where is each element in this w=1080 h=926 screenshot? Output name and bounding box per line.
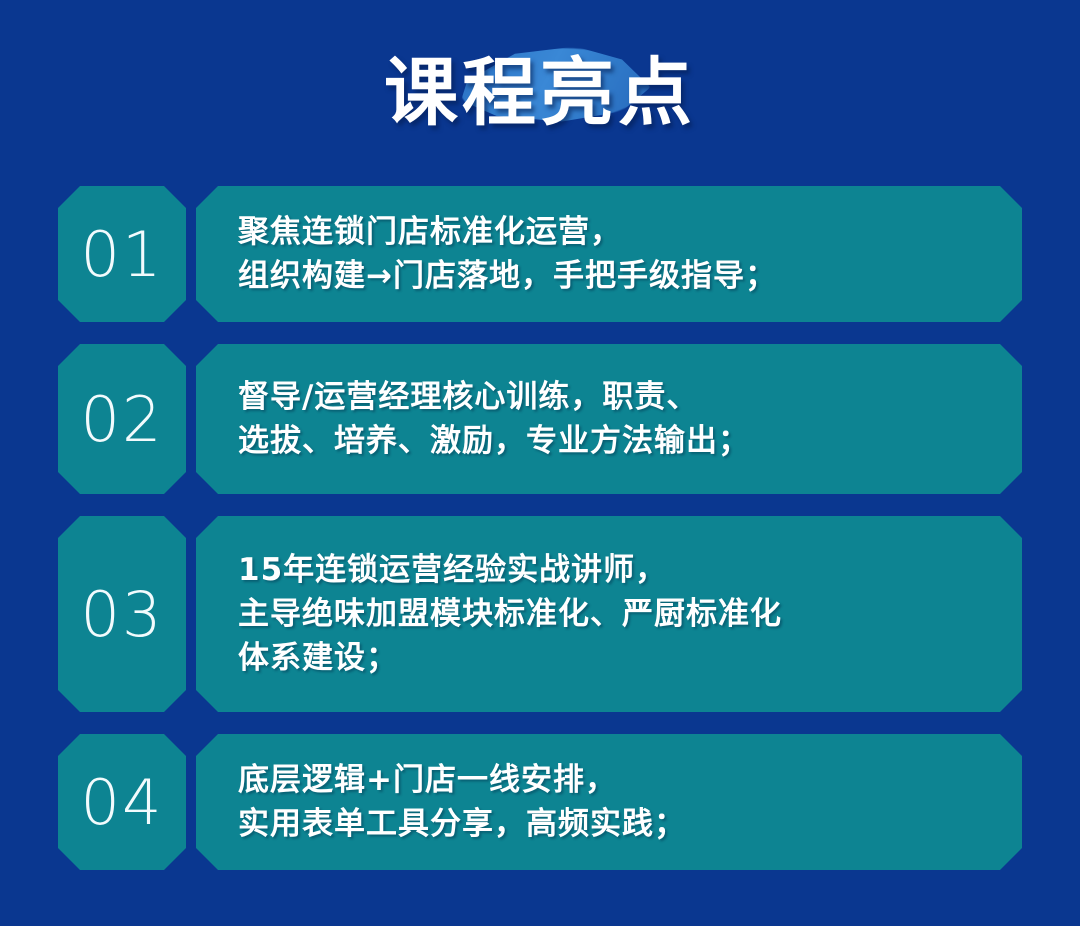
list-item[interactable]: 01 聚焦连锁门店标准化运营， 组织构建→门店落地，手把手级指导； xyxy=(58,186,1022,322)
course-highlights-poster: { "header": { "title": "课程亮点", "brush_co… xyxy=(0,0,1080,926)
item-content-04: 底层逻辑+门店一线安排， 实用表单工具分享，高频实践； xyxy=(196,734,1022,870)
item-line: 主导绝味加盟模块标准化、严厨标准化 xyxy=(238,592,988,636)
item-line: 体系建设； xyxy=(238,636,988,680)
item-number-badge-03: 03 xyxy=(58,516,186,712)
item-content-01: 聚焦连锁门店标准化运营， 组织构建→门店落地，手把手级指导； xyxy=(196,186,1022,322)
item-number-badge-04: 04 xyxy=(58,734,186,870)
highlight-list: 01 聚焦连锁门店标准化运营， 组织构建→门店落地，手把手级指导； 02 督导/… xyxy=(0,186,1080,870)
page-title-area: 课程亮点 xyxy=(0,0,1080,186)
item-line: 督导/运营经理核心训练，职责、 xyxy=(238,375,988,419)
list-item[interactable]: 02 督导/运营经理核心训练，职责、 选拔、培养、激励，专业方法输出； xyxy=(58,344,1022,494)
item-line: 底层逻辑+门店一线安排， xyxy=(238,758,988,802)
item-line: 15年连锁运营经验实战讲师， xyxy=(238,548,988,592)
item-line: 组织构建→门店落地，手把手级指导； xyxy=(238,254,988,298)
page-title: 课程亮点 xyxy=(384,56,696,130)
item-content-02: 督导/运营经理核心训练，职责、 选拔、培养、激励，专业方法输出； xyxy=(196,344,1022,494)
item-line: 聚焦连锁门店标准化运营， xyxy=(238,210,988,254)
item-content-03: 15年连锁运营经验实战讲师， 主导绝味加盟模块标准化、严厨标准化 体系建设； xyxy=(196,516,1022,712)
item-line: 选拔、培养、激励，专业方法输出； xyxy=(238,419,988,463)
list-item[interactable]: 04 底层逻辑+门店一线安排， 实用表单工具分享，高频实践； xyxy=(58,734,1022,870)
item-number-badge-02: 02 xyxy=(58,344,186,494)
list-item[interactable]: 03 15年连锁运营经验实战讲师， 主导绝味加盟模块标准化、严厨标准化 体系建设… xyxy=(58,516,1022,712)
item-line: 实用表单工具分享，高频实践； xyxy=(238,802,988,846)
item-number-badge-01: 01 xyxy=(58,186,186,322)
